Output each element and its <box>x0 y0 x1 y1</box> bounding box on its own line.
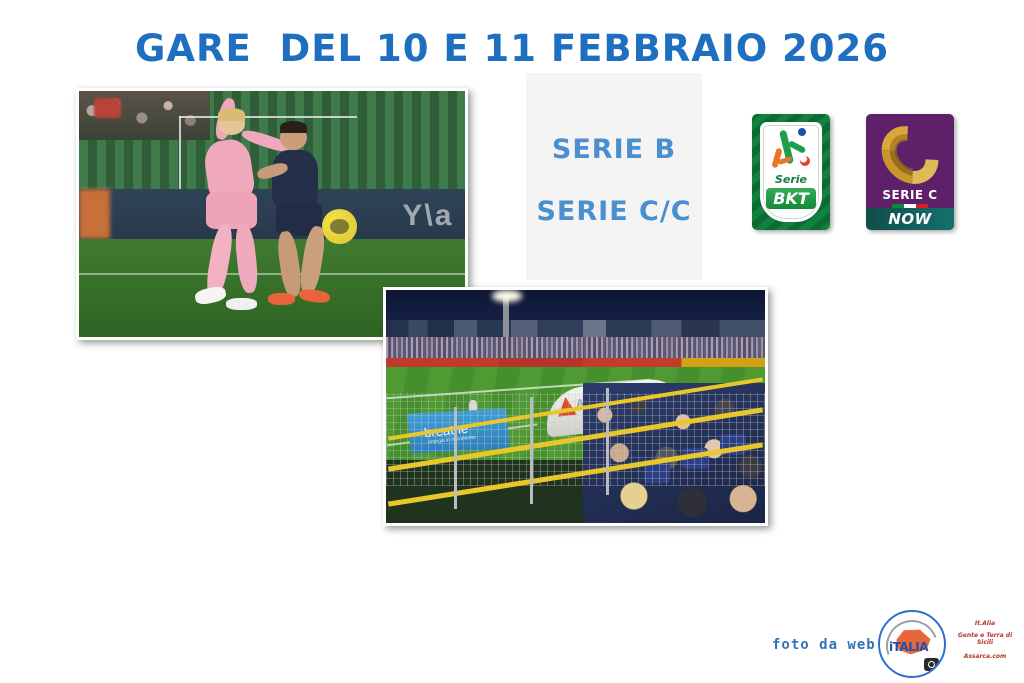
serie-b-bkt-logo[interactable]: Serie BKT <box>752 114 830 230</box>
watermark-logo-circle: iTALIA <box>878 610 946 678</box>
pink-player-hair <box>218 108 245 120</box>
bkt-badge: BKT <box>766 188 816 209</box>
watermark-line-1: It.Alia <box>950 620 1020 627</box>
watermark-text-block: It.Alia Gente e Terra di Sicili Assarca.… <box>950 620 1020 660</box>
navy-player-boot-left <box>268 293 295 305</box>
pink-player-boot-right <box>226 298 257 310</box>
page-title: GARE DEL 10 E 11 FEBBRAIO 2026 <box>0 27 1024 70</box>
goal-crossbar <box>179 116 357 118</box>
now-wordmark: NOW <box>888 210 931 228</box>
navy-player-hair <box>280 121 307 133</box>
figure-green-stroke-2 <box>788 140 807 154</box>
fence-post <box>454 407 457 510</box>
photo-night-stadium: ALBERTO breathe energia in movimento <box>383 287 768 526</box>
serie-b-wordmark-top: Serie <box>775 173 807 186</box>
ball-icon <box>800 156 810 166</box>
navy-player-torso <box>272 150 318 209</box>
figure-head <box>798 128 806 136</box>
watermark-line-3: Assarca.com <box>950 653 1020 660</box>
figure-orange-stroke <box>771 148 782 169</box>
bkt-wordmark: BKT <box>773 189 809 208</box>
watermark[interactable]: iTALIA It.Alia Gente e Terra di Sicili A… <box>878 606 1020 678</box>
serie-c-wordmark: SERIE C <box>866 188 954 202</box>
fence-post <box>606 388 609 495</box>
now-band: NOW <box>866 208 954 230</box>
floodlight-glow <box>492 290 522 302</box>
goal-post <box>179 116 181 190</box>
figure-green-stroke <box>779 130 794 165</box>
player-figure-icon <box>768 128 814 172</box>
pink-player-shorts <box>206 192 256 229</box>
pitch-line <box>79 273 465 275</box>
slide-canvas: GARE DEL 10 E 11 FEBBRAIO 2026 SERIE B S… <box>0 0 1024 683</box>
crowd-red-spot <box>94 98 121 118</box>
italia-wordmark: iTALIA <box>889 640 928 654</box>
serie-panel <box>526 73 702 280</box>
figure-orange-stroke-2 <box>778 156 793 165</box>
camera-icon <box>924 658 939 671</box>
bkt-shield: Serie BKT <box>760 122 822 222</box>
watermark-line-2: Gente e Terra di Sicili <box>950 632 1020 646</box>
serie-c-now-logo[interactable]: SERIE C NOW <box>866 114 954 230</box>
board-sponsor-text: Y\a <box>402 199 453 233</box>
photo-credit: foto da web <box>772 637 876 653</box>
ball-pattern <box>330 219 349 234</box>
serie-b-label: SERIE B <box>538 134 690 165</box>
far-crowd <box>386 337 765 358</box>
serie-c-label: SERIE C/C <box>522 196 706 227</box>
board-orange-blur <box>79 189 110 238</box>
fence-post <box>530 397 533 504</box>
